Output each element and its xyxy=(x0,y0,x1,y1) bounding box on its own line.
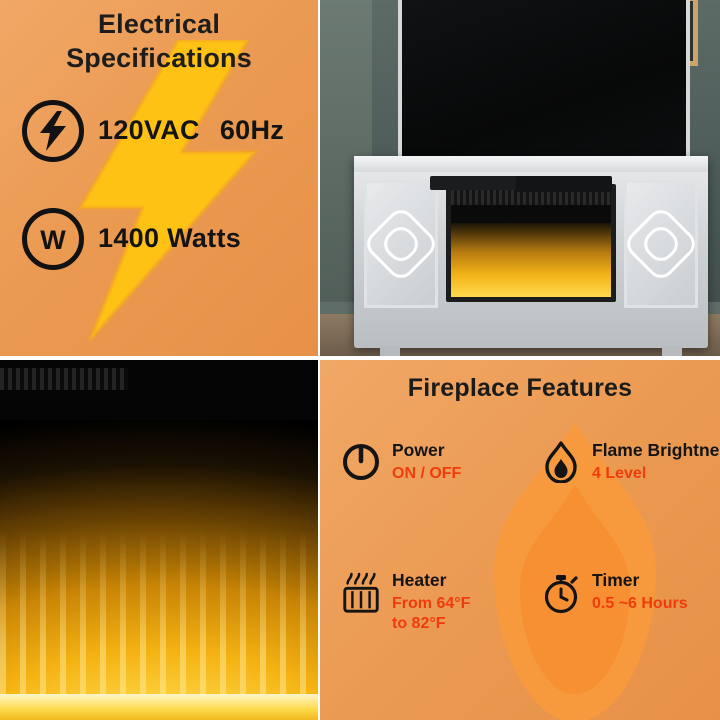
feature-flame-value-line1: 4 Level xyxy=(592,465,646,482)
console-top-surface xyxy=(354,156,708,172)
features-grid: Power ON / OFF Flame Brightness xyxy=(320,439,720,709)
feature-power: Power ON / OFF xyxy=(340,439,540,569)
heater-glyph xyxy=(340,571,382,617)
flame-ember-bed xyxy=(0,694,318,720)
spec-voltage-text: 120VAC60Hz xyxy=(98,115,284,146)
feature-timer-label: Timer xyxy=(592,570,688,590)
feature-heater: Heater From 64°F to 82°F xyxy=(340,569,540,709)
spec-frequency-value: 60Hz xyxy=(220,115,284,145)
feature-heater-value-line1: From 64°F xyxy=(392,595,470,612)
feature-timer-value-line1: 0.5 ~6 Hours xyxy=(592,595,688,612)
console-leg-left xyxy=(380,346,400,358)
tv-screen xyxy=(402,0,686,168)
electric-firebox xyxy=(446,184,616,302)
console-leg-right xyxy=(662,346,682,358)
spec-row-voltage: 120VAC60Hz xyxy=(0,100,318,162)
firebox-flame-display xyxy=(451,223,611,297)
timer-icon xyxy=(540,569,582,615)
flame-closeup-panel xyxy=(0,358,320,720)
panel-title-line1: Electrical xyxy=(0,8,318,42)
feature-power-value: ON / OFF xyxy=(392,464,461,484)
mirrored-door-right xyxy=(624,180,698,308)
feature-timer: Timer 0.5 ~6 Hours xyxy=(540,569,720,709)
fireplace-features-panel: Fireplace Features Power ON / OFF xyxy=(320,358,720,720)
feature-flame-brightness: Flame Brightness 4 Level xyxy=(540,439,720,569)
power-glyph xyxy=(341,441,381,481)
mirrored-door-left xyxy=(364,180,438,308)
panel-title: Electrical Specifications xyxy=(0,0,318,76)
feature-heater-body: Heater From 64°F to 82°F xyxy=(392,569,470,634)
watt-w-icon: W xyxy=(22,208,84,270)
feature-power-body: Power ON / OFF xyxy=(392,439,461,484)
feature-heater-label: Heater xyxy=(392,570,470,590)
power-icon xyxy=(340,439,382,485)
firebox-vent-grille xyxy=(0,368,128,390)
feature-flame-body: Flame Brightness 4 Level xyxy=(592,439,720,484)
feature-power-value-line1: ON / OFF xyxy=(392,465,461,482)
lightning-bolt-icon xyxy=(22,100,84,162)
flame-glyph xyxy=(545,441,577,483)
svg-text:W: W xyxy=(40,225,66,255)
console-legs xyxy=(380,346,682,358)
spec-voltage-value: 120VAC xyxy=(98,115,200,145)
feature-flame-value: 4 Level xyxy=(592,464,720,484)
lightning-bolt-glyph xyxy=(38,111,68,151)
feature-heater-value: From 64°F to 82°F xyxy=(392,594,470,634)
spec-row-wattage: W 1400 Watts xyxy=(0,208,318,270)
lightning-bolt-background-icon xyxy=(50,40,280,340)
feature-power-label: Power xyxy=(392,440,461,460)
feature-flame-label: Flame Brightness xyxy=(592,440,720,460)
television xyxy=(398,0,690,172)
flame-tongues xyxy=(0,530,318,720)
feature-heater-value-line2: to 82°F xyxy=(392,614,470,634)
flame-icon xyxy=(540,439,582,485)
media-device-right xyxy=(516,176,612,192)
timer-glyph xyxy=(541,571,581,615)
panel-title: Fireplace Features xyxy=(320,374,720,403)
electrical-specifications-panel: Electrical Specifications 120VAC60Hz W 1… xyxy=(0,0,320,358)
watt-w-glyph: W xyxy=(33,222,73,256)
panel-title-line2: Specifications xyxy=(0,42,318,76)
feature-timer-value: 0.5 ~6 Hours xyxy=(592,594,688,614)
infographic-page: Electrical Specifications 120VAC60Hz W 1… xyxy=(0,0,720,720)
heater-icon xyxy=(340,569,382,615)
product-photo-panel xyxy=(320,0,720,358)
spec-wattage-text: 1400 Watts xyxy=(98,223,241,254)
feature-timer-body: Timer 0.5 ~6 Hours xyxy=(592,569,688,614)
